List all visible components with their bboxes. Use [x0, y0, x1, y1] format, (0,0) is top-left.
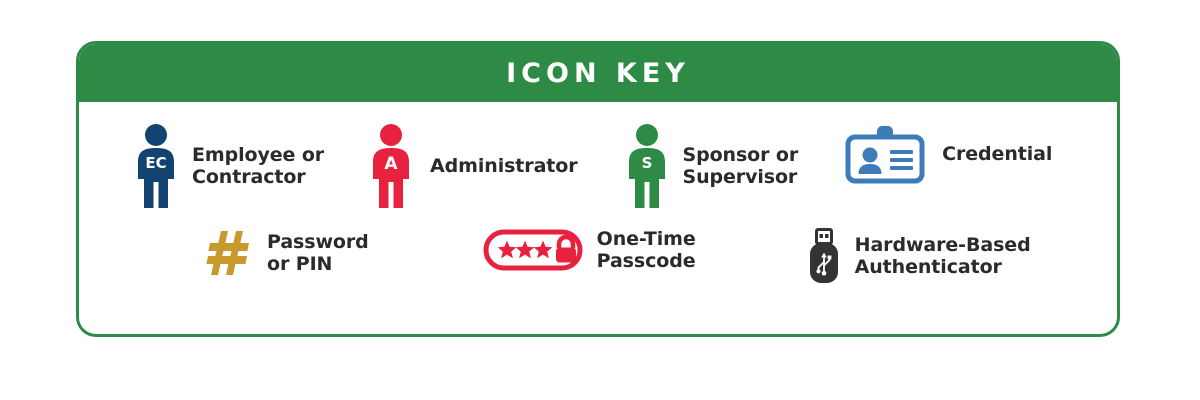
- icon-row-1: EC Employee or Contractor A Administ: [79, 102, 1117, 208]
- card-body: EC Employee or Contractor A Administ: [79, 102, 1117, 284]
- legend-item-employee-contractor: EC Employee or Contractor: [133, 124, 324, 208]
- icon-key-card: ICON KEY EC Employee or Contractor: [76, 41, 1120, 337]
- one-time-passcode-icon: [483, 229, 583, 271]
- legend-item-label: Password or PIN: [267, 231, 369, 275]
- legend-item-label: Hardware-Based Authenticator: [855, 234, 1031, 278]
- legend-item-label: Employee or Contractor: [192, 144, 324, 188]
- legend-item-label: Administrator: [430, 155, 577, 177]
- icon-key-graphic: ICON KEY EC Employee or Contractor: [0, 0, 1200, 400]
- page-title: ICON KEY: [506, 60, 690, 87]
- person-icon: S: [624, 124, 670, 208]
- legend-item-one-time-passcode: One-Time Passcode: [483, 228, 696, 272]
- legend-item-label: Sponsor or Supervisor: [683, 144, 799, 188]
- usb-key-icon: [806, 228, 842, 284]
- legend-item-administrator: A Administrator: [368, 124, 577, 208]
- person-icon-initial: A: [384, 154, 398, 174]
- person-icon-initial: EC: [145, 154, 166, 172]
- card-header: ICON KEY: [79, 44, 1117, 102]
- legend-item-sponsor-supervisor: S Sponsor or Supervisor: [624, 124, 799, 208]
- person-icon: EC: [133, 124, 179, 208]
- person-icon: A: [368, 124, 414, 208]
- hash-icon: [205, 228, 253, 278]
- legend-item-label: Credential: [942, 143, 1052, 165]
- person-icon-initial: S: [641, 154, 652, 172]
- id-badge-icon: [844, 124, 926, 184]
- legend-item-credential: Credential: [844, 124, 1052, 184]
- legend-item-label: One-Time Passcode: [597, 228, 696, 272]
- legend-item-password-pin: Password or PIN: [205, 228, 369, 278]
- icon-row-2: Password or PIN: [79, 208, 1117, 284]
- legend-item-hardware-authenticator: Hardware-Based Authenticator: [806, 228, 1031, 284]
